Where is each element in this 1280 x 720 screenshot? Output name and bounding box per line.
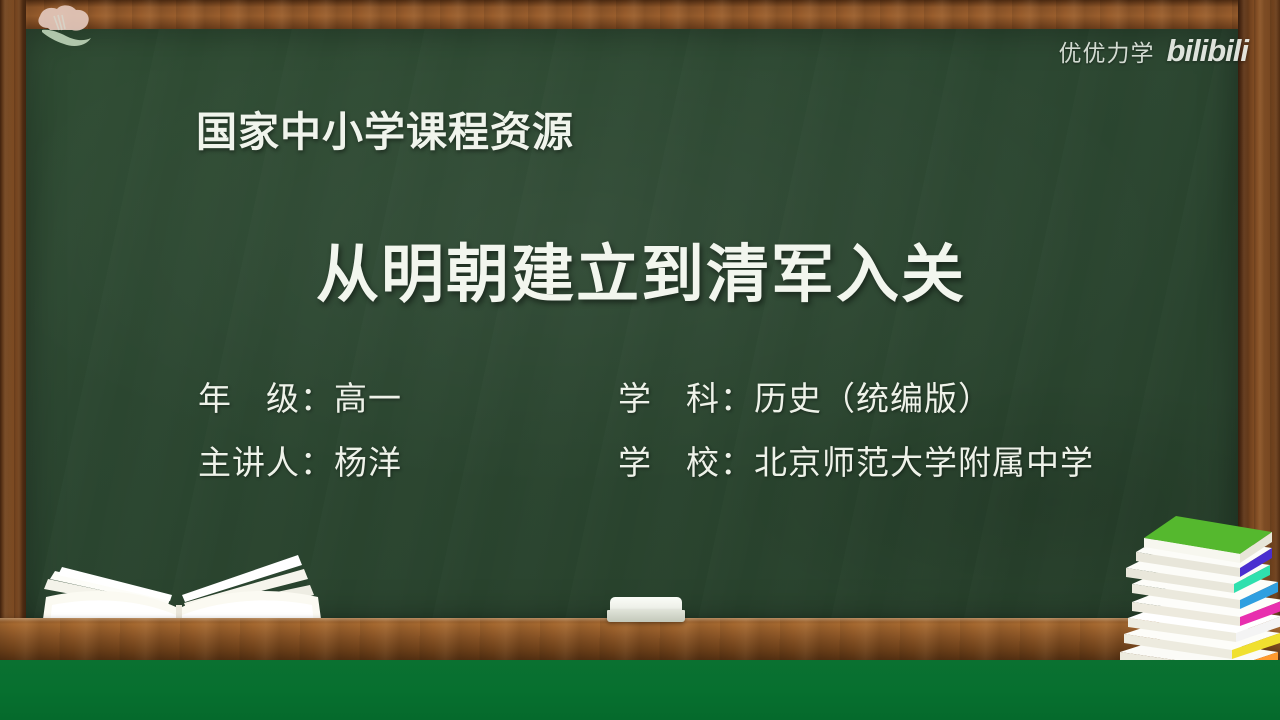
metadata-school: 学 校：北京师范大学附属中学: [618, 436, 1198, 484]
watermark-channel-name: 优优力学: [1058, 34, 1154, 68]
cloud-wave-logo-icon: [28, 2, 100, 58]
ledge-wood-grain: [0, 618, 1280, 662]
program-name: 国家中小学课程资源: [196, 98, 574, 158]
lesson-metadata: 年 级：高一 学 科：历史（统编版） 主讲人：杨洋 学 校：北京师范大学附属中学: [198, 372, 1198, 500]
metadata-row: 年 级：高一 学 科：历史（统编版）: [198, 372, 1198, 420]
metadata-grade: 年 级：高一: [198, 372, 618, 420]
lesson-title: 从明朝建立到清军入关: [316, 224, 966, 315]
slide-canvas: 优优力学 bilibili 国家中小学课程资源 从明朝建立到清军入关 年 级：高…: [0, 0, 1280, 720]
bilibili-logo: bilibili: [1166, 33, 1248, 69]
watermark: 优优力学 bilibili: [1058, 33, 1248, 69]
metadata-presenter: 主讲人：杨洋: [198, 436, 618, 484]
chalkboard-eraser-icon: [607, 597, 685, 622]
chalkboard-ledge: [0, 618, 1280, 662]
metadata-row: 主讲人：杨洋 学 校：北京师范大学附属中学: [198, 436, 1198, 484]
book-stack-icon: [1112, 502, 1280, 680]
bottom-green-band: [0, 660, 1280, 720]
wooden-frame-top: [0, 0, 1280, 29]
eraser-base: [607, 610, 685, 622]
metadata-subject: 学 科：历史（统编版）: [618, 372, 1198, 420]
